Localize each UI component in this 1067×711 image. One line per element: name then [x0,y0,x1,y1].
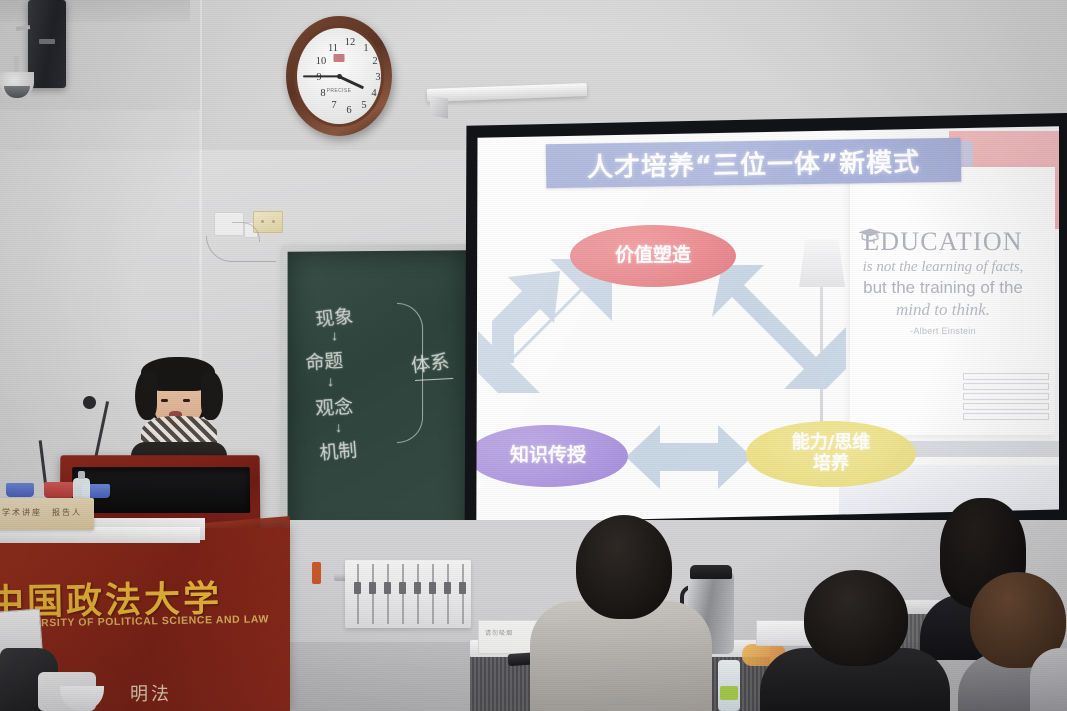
node-knowledge-transfer: 知识传授 [474,425,628,487]
wall-clock: 12 1 2 3 4 5 6 7 8 9 10 11 PRECISE [286,16,392,136]
slide-lamp-graphic [781,183,845,443]
audience-member [1030,648,1067,711]
chalk-text: 观念 [315,392,354,421]
slide-title-text: 人才培养“三位一体”新模式 [587,142,921,184]
quote-line-3: but the training of the [839,278,1047,298]
einstein-quote: EDUCATION is not the learning of facts, … [839,229,1047,336]
node-ability-thinking: 能力/思维 培养 [746,421,916,487]
arrow-diagonal-left-icon [478,259,612,393]
chalk-text: 命题 [305,346,345,376]
arrow-horizontal-icon [626,425,752,489]
lecture-hall-scene: 12 1 2 3 4 5 6 7 8 9 10 11 PRECISE 现象 [0,0,1067,711]
name-card: 学术讲座 报告人 [0,498,94,530]
clock-numeral: 1 [359,44,373,55]
clock-numeral: 10 [314,57,328,68]
chalk-arrow: ↓ [331,329,338,345]
node-value-shaping: 价值塑造 [570,225,736,287]
presenter-hair-left [135,372,157,420]
chalk-text: 机制 [318,435,358,465]
clock-minute-hand [303,75,339,77]
clock-numeral: 4 [367,89,381,100]
speaker-grill [39,39,55,44]
cup-blue [6,483,34,497]
desk-paper-sign-text: 请勿吸烟 [485,628,513,637]
podium-subtext: 明法 [130,680,172,706]
presentation-slide: 人才培养“三位一体”新模式 价值塑造 知识传授 [474,125,1059,523]
clock-numeral: 7 [327,101,341,112]
clock-hour-hand [338,75,364,89]
clock-center-pin [337,74,342,79]
radiator [345,560,471,628]
cup-red [44,482,74,498]
clock-face: 12 1 2 3 4 5 6 7 8 9 10 11 PRECISE [297,28,381,124]
name-card-text: 学术讲座 报告人 [2,507,82,518]
chalk-side-note: 体系 [410,347,451,379]
arrow-up-left-icon [492,271,560,363]
microphone-icon [83,396,96,409]
graduation-cap-icon [857,227,883,243]
book-stack-icon [963,373,1049,427]
clock-numeral: 5 [357,101,371,112]
clock-numeral: 2 [368,57,382,68]
clock-numeral: 3 [371,73,385,84]
desk-paper-sign: 请勿吸烟 [478,620,538,654]
radiator-valve[interactable] [312,562,321,584]
wall-plaque [253,211,283,233]
clock-numeral: 6 [342,106,356,117]
projection-screen[interactable]: 人才培养“三位一体”新模式 价值塑造 知识传授 [474,125,1059,523]
blackboard-surface: 现象 ↓ 命题 ↓ 观念 ↓ 机制 体系 [288,250,468,540]
quote-line-2: is not the learning of facts, [839,259,1047,276]
screen-bracket [430,95,448,118]
blackboard: 现象 ↓ 命题 ↓ 观念 ↓ 机制 体系 [282,244,474,546]
node-label-line1: 能力/思维 [792,433,871,454]
node-label: 知识传授 [510,445,586,467]
audience-member [530,515,712,711]
node-label: 价值塑造 [615,245,691,267]
clock-brand-text: PRECISE [327,88,352,94]
chalk-arrow: ↓ [327,375,334,391]
slide-title-bar: 人才培养“三位一体”新模式 [546,138,962,189]
bottled-water [718,660,740,711]
quote-line-4: mind to think. [839,300,1047,320]
clock-numeral: 12 [343,38,357,49]
quote-attribution: -Albert Einstein [839,326,1047,336]
clock-brand-mark [334,54,345,62]
node-label-line2: 培养 [792,454,871,475]
presenter-hair-right [201,372,223,420]
chalk-arrow: ↓ [335,421,342,437]
chalk-text: 现象 [314,301,354,332]
audience-member [760,570,950,711]
presenter [131,358,227,470]
